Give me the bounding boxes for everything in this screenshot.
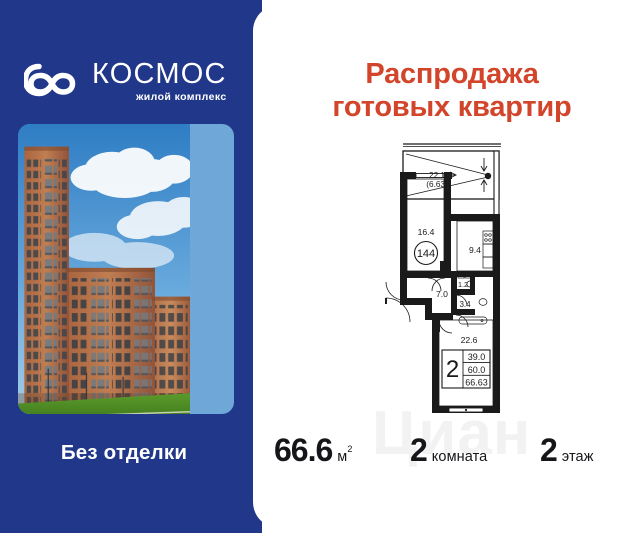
finishing-status-label: Без отделки <box>0 441 248 465</box>
plan-area-bedroom: 22.6 <box>461 335 478 345</box>
plan-area-wc: 1.2 <box>458 280 468 289</box>
svg-text:39.0: 39.0 <box>468 352 486 362</box>
svg-text:2: 2 <box>446 356 459 383</box>
promo-headline-line2: готовых квартир <box>268 91 636 124</box>
stat-floor-unit: этаж <box>562 449 594 465</box>
plan-apartment-number: 144 <box>415 242 438 265</box>
promo-headline-line1: Распродажа <box>365 58 538 90</box>
stat-area: 66.6 м2 <box>274 433 352 467</box>
plan-area-balcony-reduced: (6.63) <box>426 180 448 189</box>
residential-building-photo <box>18 124 234 414</box>
stat-floor-value: 2 <box>540 433 557 467</box>
plan-area-kitchen: 9.4 <box>469 245 481 255</box>
svg-text:60.0: 60.0 <box>468 365 486 375</box>
stat-area-value: 66.6 <box>274 433 332 467</box>
brand-logo: КОСМОС жилой комплекс <box>24 59 240 113</box>
brand-name: КОСМОС <box>92 59 227 89</box>
listing-card: КОСМОС жилой комплекс <box>0 0 640 533</box>
infinity-logo-icon <box>24 63 80 97</box>
stat-floor: 2 этаж <box>540 433 594 467</box>
stat-rooms-value: 2 <box>410 433 427 467</box>
brand-tagline: жилой комплекс <box>136 90 227 104</box>
plan-area-living-room: 16.4 <box>418 227 435 237</box>
svg-text:66.63: 66.63 <box>465 378 488 388</box>
plan-area-balcony: 22.1 <box>429 171 445 180</box>
floor-plan: 22.1 (6.63) 16.4 9.4 7.0 1.2 3.4 22.6 14… <box>370 132 542 430</box>
plan-area-bathroom: 3.4 <box>459 300 471 309</box>
plan-area-hall: 7.0 <box>436 289 448 299</box>
plan-legend: 2 39.0 60.0 66.63 <box>442 350 490 388</box>
listing-stats: 66.6 м2 2 комната 2 этаж <box>262 428 640 478</box>
stat-rooms: 2 комната <box>410 433 487 467</box>
stat-rooms-unit: комната <box>432 449 488 465</box>
stat-area-superscript: 2 <box>347 444 352 454</box>
svg-text:144: 144 <box>417 248 435 260</box>
promo-headline: Распродажа готовых квартир <box>268 58 636 124</box>
stat-area-unit: м2 <box>337 447 352 465</box>
